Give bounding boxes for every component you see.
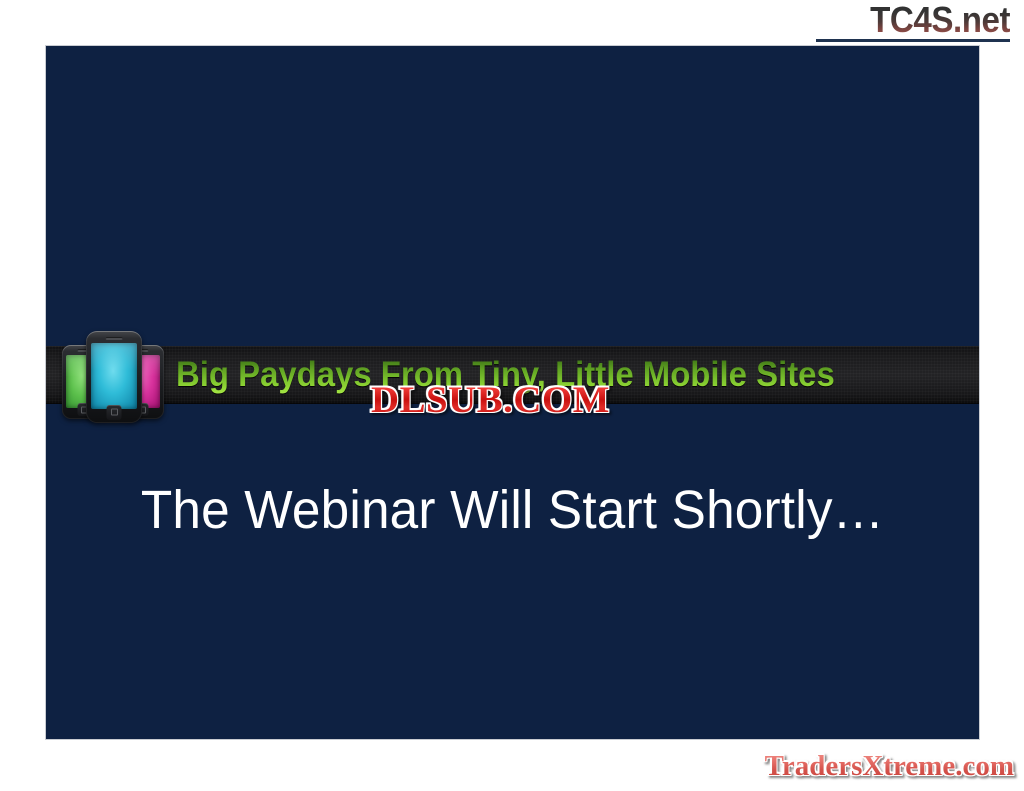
phone-screen-cyan [91,343,137,409]
phone-speaker-slot [106,337,123,340]
tradersxtreme-watermark-label: TradersXtreme.com [765,750,1014,783]
mobile-phone-icon-cyan [86,331,142,423]
dlsub-watermark-label: DLSUB.COM [371,379,610,422]
tc4s-underline-rule [816,39,1010,42]
tc4s-watermark-label: TC4S.net [870,2,1010,38]
presentation-slide: Big Paydays From Tiny, Little Mobile Sit… [45,45,980,740]
tc4s-watermark: TC4S.net [810,2,1010,42]
slide-headline: The Webinar Will Start Shortly… [69,479,955,541]
phone-home-button [107,405,122,420]
mobile-phones-graphic [62,327,182,423]
